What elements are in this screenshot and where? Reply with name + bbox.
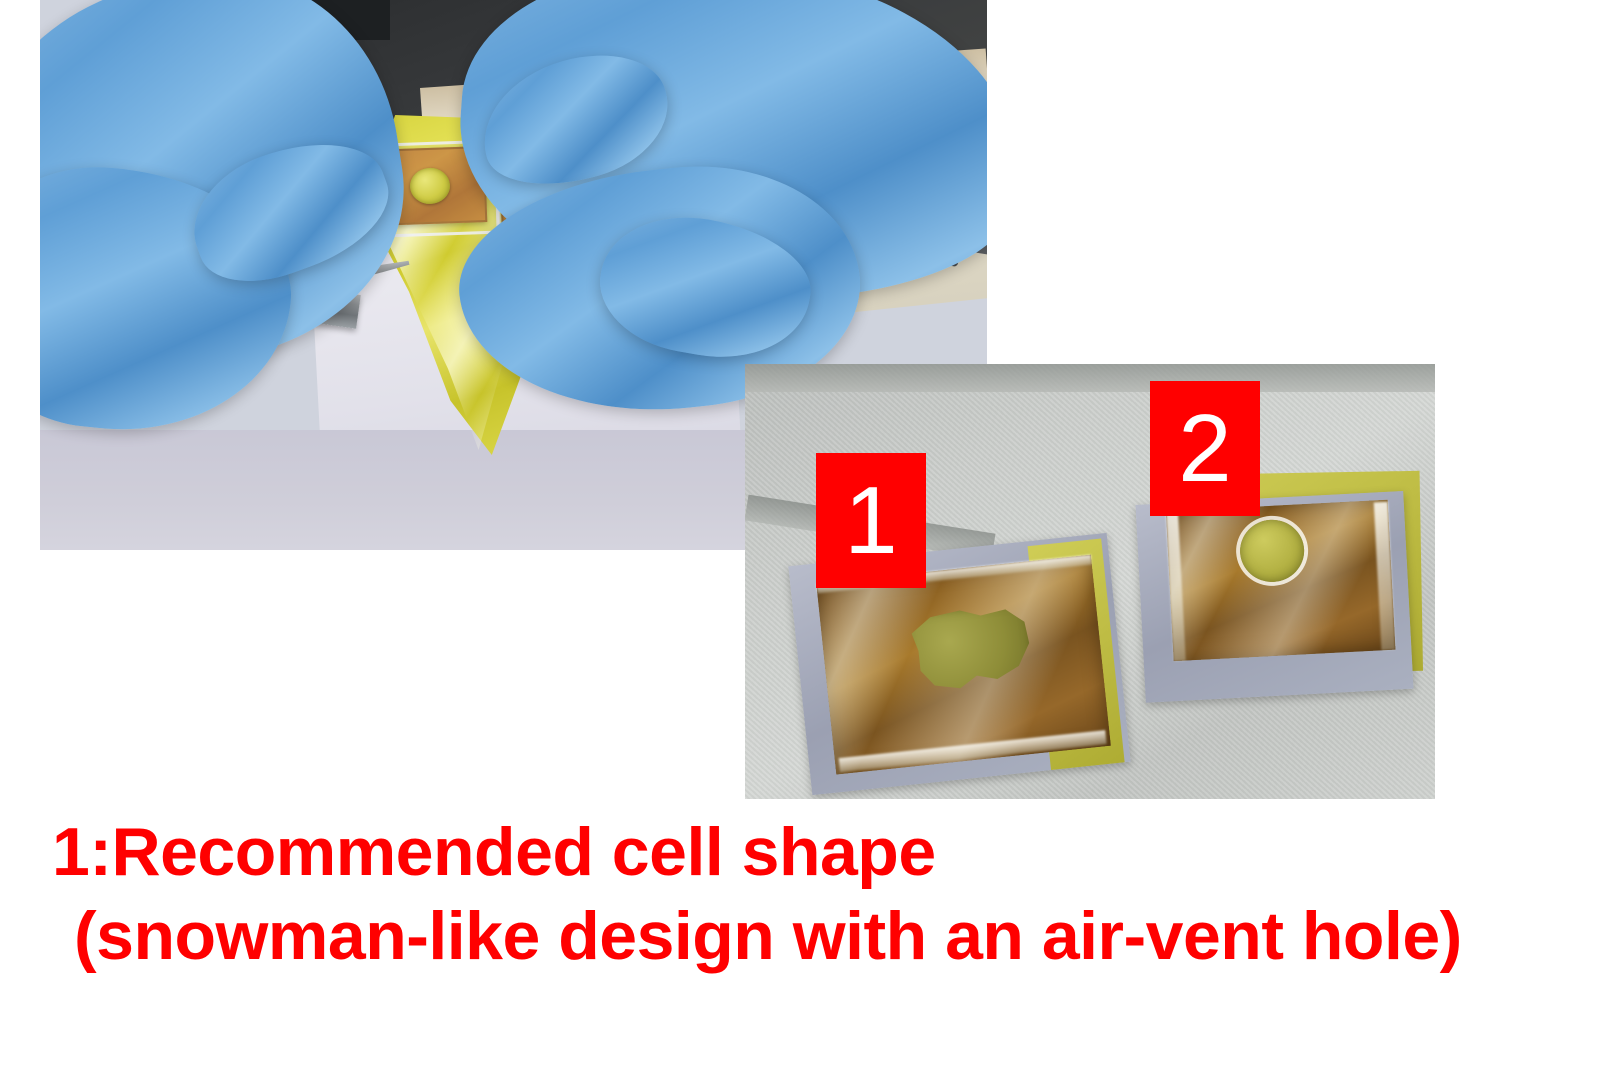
annotation-badge-2: 2 xyxy=(1150,381,1260,516)
annotation-badge-1: 1 xyxy=(816,453,926,588)
inset-top-shadow xyxy=(745,364,1435,392)
figure-canvas: 4A-SA M xyxy=(0,0,1619,1065)
caption-line-1: 1:Recommended cell shape xyxy=(52,812,936,894)
caption-line-2: (snowman-like design with an air-vent ho… xyxy=(74,896,1462,978)
